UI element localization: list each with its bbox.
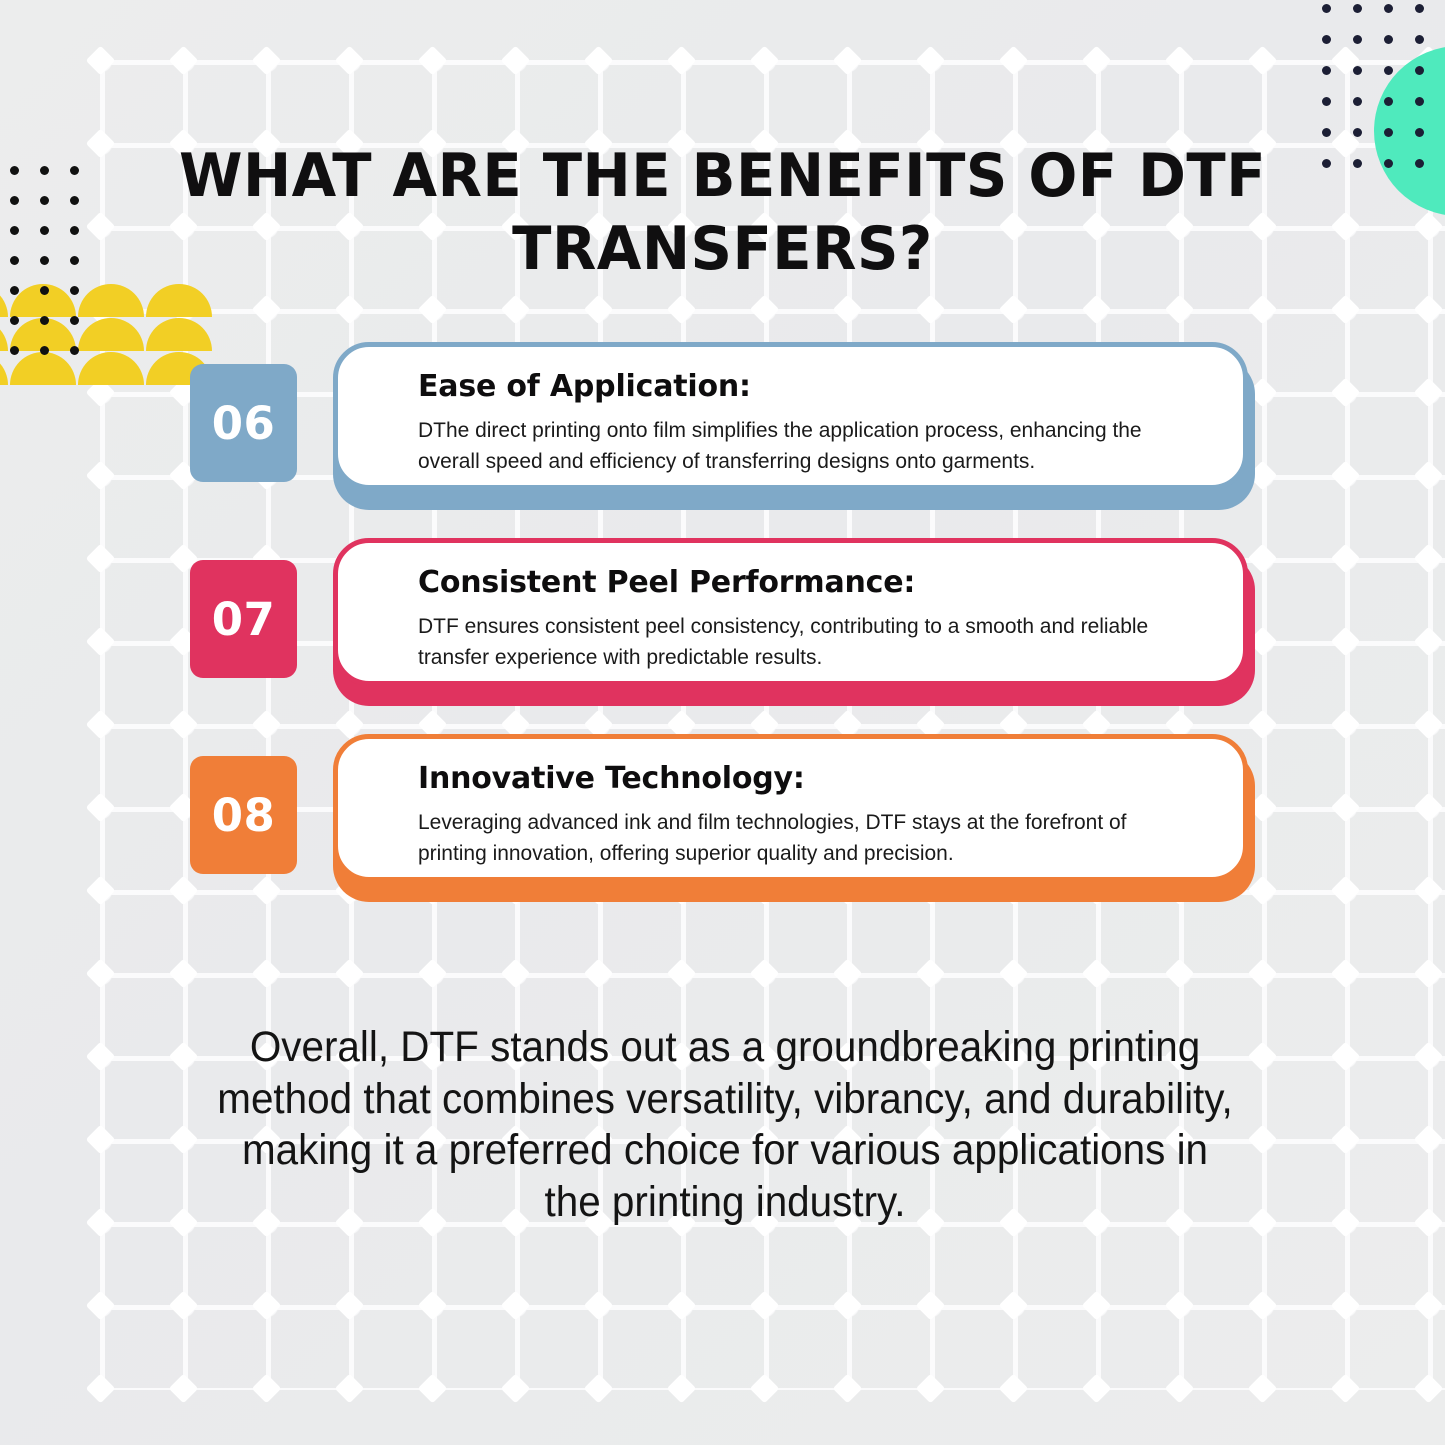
grid-diamond bbox=[999, 46, 1029, 76]
grid-diamond bbox=[1331, 46, 1361, 76]
decorative-dot bbox=[40, 166, 49, 175]
grid-diamond bbox=[1248, 1125, 1278, 1155]
grid-diamond bbox=[750, 1291, 780, 1321]
grid-diamond bbox=[667, 1374, 697, 1404]
decorative-dot bbox=[1322, 35, 1331, 44]
grid-diamond bbox=[418, 959, 448, 989]
grid-diamond bbox=[1248, 1042, 1278, 1072]
grid-diamond bbox=[1082, 295, 1112, 325]
benefit-card-body: Innovative Technology:Leveraging advance… bbox=[333, 734, 1248, 882]
benefit-item: 06Ease of Application:DThe direct printi… bbox=[0, 336, 1445, 532]
grid-diamond bbox=[501, 46, 531, 76]
grid-diamond bbox=[1414, 1208, 1444, 1238]
decorative-dot bbox=[70, 166, 79, 175]
benefit-card-body: Consistent Peel Performance:DTF ensures … bbox=[333, 538, 1248, 686]
grid-diamond bbox=[418, 295, 448, 325]
decorative-dot bbox=[10, 196, 19, 205]
benefit-number-badge: 06 bbox=[190, 364, 297, 482]
benefits-list: 06Ease of Application:DThe direct printi… bbox=[0, 336, 1445, 924]
grid-diamond bbox=[169, 1291, 199, 1321]
benefit-heading: Consistent Peel Performance: bbox=[418, 565, 1213, 600]
grid-diamond bbox=[1165, 46, 1195, 76]
benefit-card: Innovative Technology:Leveraging advance… bbox=[333, 734, 1255, 902]
grid-diamond bbox=[1331, 295, 1361, 325]
grid-diamond bbox=[1414, 1291, 1444, 1321]
grid-diamond bbox=[418, 1291, 448, 1321]
yellow-semicircle bbox=[10, 284, 76, 317]
yellow-semicircle bbox=[0, 284, 8, 317]
grid-diamond bbox=[335, 46, 365, 76]
decorative-dot bbox=[1353, 66, 1362, 75]
decorative-dot bbox=[1415, 35, 1424, 44]
grid-diamond bbox=[86, 129, 116, 159]
grid-diamond bbox=[584, 1291, 614, 1321]
benefit-heading: Ease of Application: bbox=[418, 369, 1213, 404]
grid-diamond bbox=[1331, 1291, 1361, 1321]
grid-diamond bbox=[169, 1374, 199, 1404]
grid-diamond bbox=[252, 295, 282, 325]
benefit-card-body: Ease of Application:DThe direct printing… bbox=[333, 342, 1248, 490]
decorative-dot bbox=[70, 256, 79, 265]
grid-diamond bbox=[418, 1374, 448, 1404]
decorative-dot bbox=[1353, 97, 1362, 106]
grid-diamond bbox=[1414, 212, 1444, 242]
grid-diamond bbox=[501, 1291, 531, 1321]
decorative-dot bbox=[1322, 128, 1331, 137]
infographic-poster: WHAT ARE THE BENEFITS OF DTF TRANSFERS? … bbox=[0, 0, 1445, 1445]
grid-diamond bbox=[1082, 1374, 1112, 1404]
grid-diamond bbox=[667, 46, 697, 76]
grid-diamond bbox=[252, 1291, 282, 1321]
grid-diamond bbox=[501, 295, 531, 325]
grid-diamond bbox=[833, 46, 863, 76]
decorative-dot bbox=[10, 226, 19, 235]
grid-diamond bbox=[169, 1125, 199, 1155]
grid-diamond bbox=[1165, 959, 1195, 989]
yellow-semicircle bbox=[78, 284, 144, 317]
decorative-dot bbox=[1353, 159, 1362, 168]
grid-diamond bbox=[833, 1291, 863, 1321]
grid-diamond bbox=[750, 46, 780, 76]
decorative-dot bbox=[40, 226, 49, 235]
decorative-dot bbox=[1322, 66, 1331, 75]
grid-diamond bbox=[86, 1042, 116, 1072]
grid-diamond bbox=[1082, 46, 1112, 76]
benefit-number-badge: 07 bbox=[190, 560, 297, 678]
grid-diamond bbox=[86, 959, 116, 989]
grid-diamond bbox=[1082, 1291, 1112, 1321]
grid-diamond bbox=[1248, 295, 1278, 325]
grid-diamond bbox=[999, 1374, 1029, 1404]
grid-diamond bbox=[1331, 212, 1361, 242]
page-title: WHAT ARE THE BENEFITS OF DTF TRANSFERS? bbox=[173, 140, 1272, 286]
grid-diamond bbox=[1331, 129, 1361, 159]
grid-diamond bbox=[584, 46, 614, 76]
grid-diamond bbox=[667, 959, 697, 989]
grid-diamond bbox=[1082, 959, 1112, 989]
grid-diamond bbox=[169, 959, 199, 989]
grid-diamond bbox=[501, 1374, 531, 1404]
grid-diamond bbox=[1414, 295, 1444, 325]
decorative-dot bbox=[70, 226, 79, 235]
grid-diamond bbox=[750, 1374, 780, 1404]
grid-diamond bbox=[999, 959, 1029, 989]
grid-diamond bbox=[335, 959, 365, 989]
grid-diamond bbox=[86, 1208, 116, 1238]
decorative-dot bbox=[1415, 4, 1424, 13]
grid-diamond bbox=[335, 1374, 365, 1404]
grid-diamond bbox=[916, 46, 946, 76]
grid-diamond bbox=[916, 1291, 946, 1321]
decorative-dot bbox=[1384, 35, 1393, 44]
decorative-dot bbox=[10, 316, 19, 325]
grid-diamond bbox=[86, 1374, 116, 1404]
grid-diamond bbox=[750, 959, 780, 989]
decorative-dot bbox=[1322, 4, 1331, 13]
benefit-description: DThe direct printing onto film simplifie… bbox=[418, 415, 1193, 476]
decorative-dot bbox=[40, 196, 49, 205]
grid-diamond bbox=[418, 46, 448, 76]
grid-diamond bbox=[916, 295, 946, 325]
grid-diamond bbox=[1331, 1125, 1361, 1155]
grid-diamond bbox=[1165, 1291, 1195, 1321]
grid-diamond bbox=[169, 1208, 199, 1238]
grid-diamond bbox=[1331, 1208, 1361, 1238]
grid-diamond bbox=[667, 295, 697, 325]
grid-diamond bbox=[1414, 959, 1444, 989]
benefit-card: Consistent Peel Performance:DTF ensures … bbox=[333, 538, 1255, 706]
yellow-semicircle bbox=[146, 284, 212, 317]
decorative-dot bbox=[10, 166, 19, 175]
decorative-dot bbox=[40, 256, 49, 265]
benefit-description: DTF ensures consistent peel consistency,… bbox=[418, 611, 1193, 672]
decorative-dot bbox=[1384, 4, 1393, 13]
grid-diamond bbox=[584, 1374, 614, 1404]
decorative-dot bbox=[70, 196, 79, 205]
grid-diamond bbox=[252, 46, 282, 76]
decorative-dot bbox=[1353, 35, 1362, 44]
grid-diamond bbox=[833, 1374, 863, 1404]
grid-diamond bbox=[999, 1291, 1029, 1321]
decorative-dot bbox=[70, 316, 79, 325]
grid-diamond bbox=[667, 1291, 697, 1321]
grid-diamond bbox=[1331, 959, 1361, 989]
grid-diamond bbox=[750, 295, 780, 325]
grid-diamond bbox=[833, 959, 863, 989]
grid-diamond bbox=[1414, 1042, 1444, 1072]
grid-diamond bbox=[916, 959, 946, 989]
benefit-item: 07Consistent Peel Performance:DTF ensure… bbox=[0, 532, 1445, 728]
grid-diamond bbox=[1248, 1374, 1278, 1404]
summary-paragraph: Overall, DTF stands out as a groundbreak… bbox=[213, 1022, 1238, 1228]
grid-diamond bbox=[1414, 1374, 1444, 1404]
decorative-dot bbox=[1322, 97, 1331, 106]
grid-diamond bbox=[1248, 1291, 1278, 1321]
grid-diamond bbox=[86, 1291, 116, 1321]
grid-diamond bbox=[86, 46, 116, 76]
grid-diamond bbox=[916, 1374, 946, 1404]
grid-diamond bbox=[86, 1125, 116, 1155]
benefit-description: Leveraging advanced ink and film technol… bbox=[418, 807, 1193, 868]
decorative-dot bbox=[1353, 4, 1362, 13]
grid-diamond bbox=[335, 1291, 365, 1321]
decorative-dot bbox=[1322, 159, 1331, 168]
decorative-dot bbox=[1384, 66, 1393, 75]
grid-diamond bbox=[1165, 295, 1195, 325]
grid-diamond bbox=[252, 959, 282, 989]
teal-circle-decoration bbox=[1374, 46, 1445, 216]
benefit-card: Ease of Application:DThe direct printing… bbox=[333, 342, 1255, 510]
grid-diamond bbox=[501, 959, 531, 989]
decorative-dot bbox=[10, 256, 19, 265]
grid-diamond bbox=[1248, 46, 1278, 76]
grid-diamond bbox=[1331, 1374, 1361, 1404]
grid-diamond bbox=[1165, 1374, 1195, 1404]
benefit-number-badge: 08 bbox=[190, 756, 297, 874]
grid-diamond bbox=[833, 295, 863, 325]
grid-diamond bbox=[999, 295, 1029, 325]
grid-diamond bbox=[169, 1042, 199, 1072]
decorative-dot bbox=[10, 286, 19, 295]
grid-diamond bbox=[1248, 959, 1278, 989]
grid-diamond bbox=[1248, 1208, 1278, 1238]
grid-diamond bbox=[1414, 1125, 1444, 1155]
decorative-dot bbox=[70, 286, 79, 295]
benefit-heading: Innovative Technology: bbox=[418, 761, 1213, 796]
grid-diamond bbox=[584, 295, 614, 325]
benefit-item: 08Innovative Technology:Leveraging advan… bbox=[0, 728, 1445, 924]
grid-diamond bbox=[1331, 1042, 1361, 1072]
grid-diamond bbox=[252, 1374, 282, 1404]
grid-diamond bbox=[86, 212, 116, 242]
grid-diamond bbox=[335, 295, 365, 325]
grid-diamond bbox=[169, 46, 199, 76]
grid-diamond bbox=[584, 959, 614, 989]
decorative-dot bbox=[1353, 128, 1362, 137]
